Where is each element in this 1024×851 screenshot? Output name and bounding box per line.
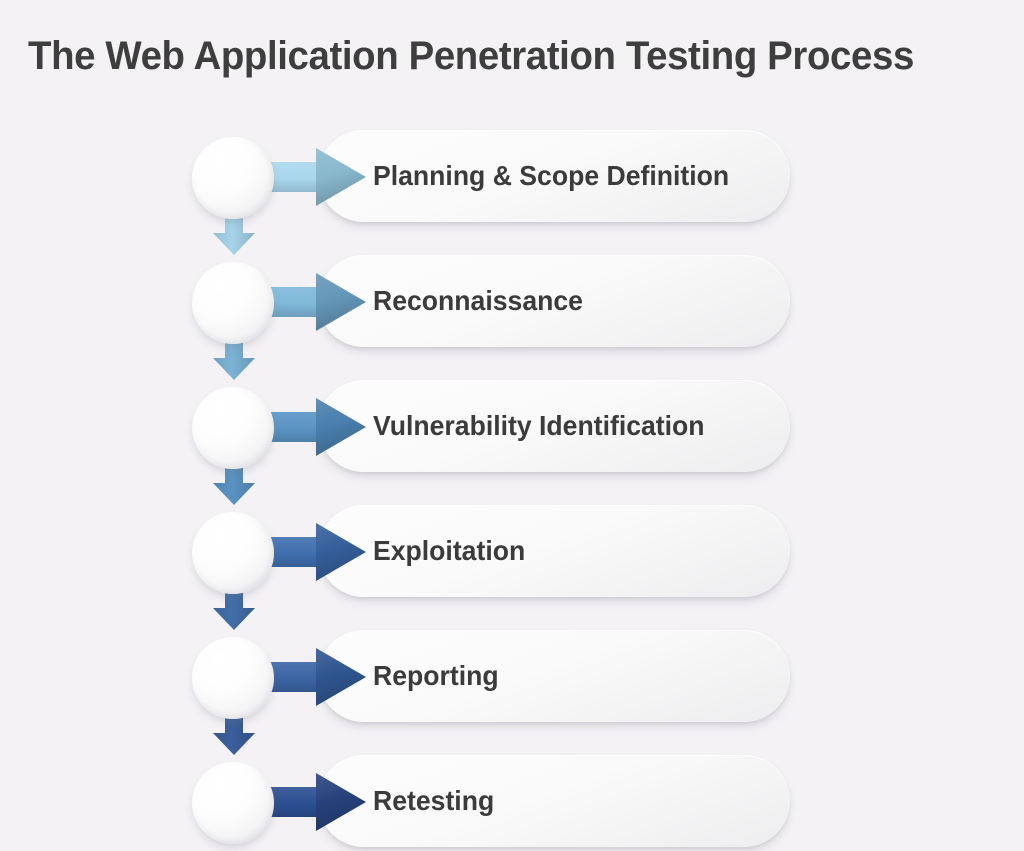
step-circle-node bbox=[192, 137, 274, 219]
step-card[interactable]: Vulnerability Identification bbox=[318, 380, 790, 472]
step-label: Planning & Scope Definition bbox=[373, 130, 729, 222]
step-circle-node bbox=[192, 512, 274, 594]
chevron-down-icon bbox=[212, 340, 256, 384]
arrow-right-icon bbox=[262, 523, 368, 581]
chevron-down-icon bbox=[212, 715, 256, 759]
step-circle-node bbox=[192, 762, 274, 844]
penetration-testing-process-infographic: The Web Application Penetration Testing … bbox=[0, 0, 1024, 842]
chevron-down-icon bbox=[212, 590, 256, 634]
step-card[interactable]: Planning & Scope Definition bbox=[318, 130, 790, 222]
chevron-down-icon bbox=[212, 465, 256, 509]
step-card[interactable]: Exploitation bbox=[318, 505, 790, 597]
arrow-right-icon bbox=[262, 273, 368, 331]
step-label: Retesting bbox=[373, 755, 494, 847]
process-step-4: Exploitation bbox=[0, 505, 1024, 601]
arrow-right-icon bbox=[262, 773, 368, 831]
step-label: Exploitation bbox=[373, 505, 525, 597]
process-step-5: Reporting bbox=[0, 630, 1024, 726]
arrow-right-icon bbox=[262, 648, 368, 706]
step-card[interactable]: Reconnaissance bbox=[318, 255, 790, 347]
process-step-1: Planning & Scope Definition bbox=[0, 130, 1024, 226]
process-step-6: Retesting bbox=[0, 755, 1024, 851]
step-circle-node bbox=[192, 637, 274, 719]
process-step-list: Planning & Scope DefinitionReconnaissanc… bbox=[0, 0, 1024, 842]
arrow-right-icon bbox=[262, 148, 368, 206]
chevron-down-icon bbox=[212, 215, 256, 259]
step-circle-node bbox=[192, 387, 274, 469]
step-card[interactable]: Retesting bbox=[318, 755, 790, 847]
step-circle-node bbox=[192, 262, 274, 344]
step-card[interactable]: Reporting bbox=[318, 630, 790, 722]
process-step-3: Vulnerability Identification bbox=[0, 380, 1024, 476]
process-step-2: Reconnaissance bbox=[0, 255, 1024, 351]
step-label: Reconnaissance bbox=[373, 255, 583, 347]
step-label: Vulnerability Identification bbox=[373, 380, 705, 472]
step-label: Reporting bbox=[373, 630, 499, 722]
arrow-right-icon bbox=[262, 398, 368, 456]
